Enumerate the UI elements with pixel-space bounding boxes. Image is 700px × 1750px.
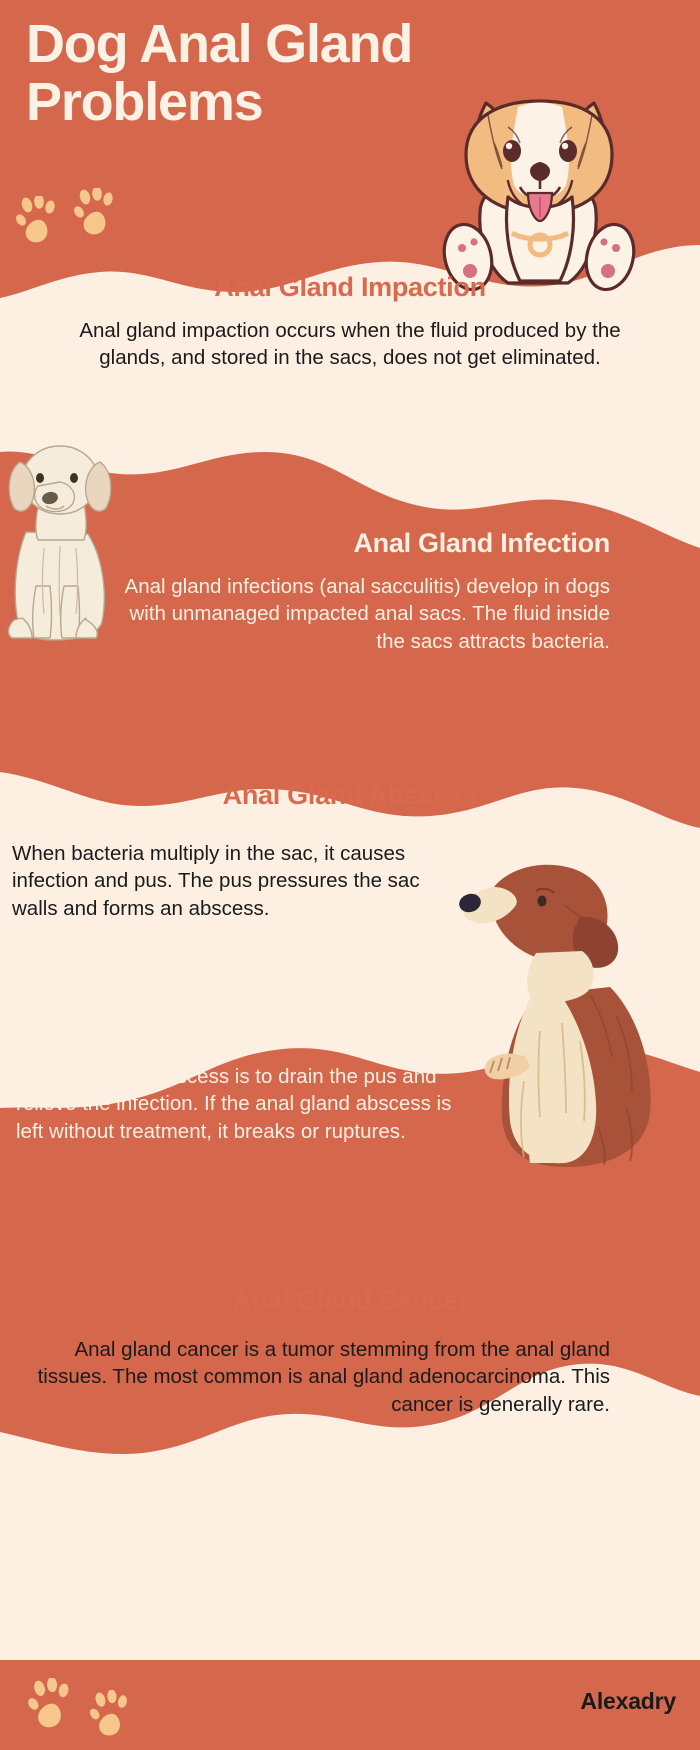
paw-print-icon — [14, 196, 60, 246]
section-body: The role of the abscess is to drain the … — [16, 1063, 471, 1145]
section-heading: Anal Gland Infection — [120, 528, 610, 559]
paw-print-icon — [26, 1678, 74, 1732]
section-rupture: The role of the abscess is to drain the … — [16, 1063, 471, 1145]
section-body: Anal gland cancer is a tumor stemming fr… — [30, 1336, 610, 1418]
section-impaction: Anal Gland Impaction Anal gland impactio… — [60, 272, 640, 372]
brand-name: Alexadry — [580, 1688, 676, 1715]
section-body: Anal gland impaction occurs when the flu… — [60, 317, 640, 372]
section-cancer: Anal gland cancer is a tumor stemming fr… — [30, 1336, 610, 1418]
paw-print-icon — [72, 188, 118, 238]
section-abscess-heading-wrap: Anal Gland Abscess — [60, 780, 640, 825]
infographic-poster: Dog Anal Gland Problems — [0, 0, 700, 1750]
section-cancer-heading-wrap: Anal Gland Cancer — [60, 1285, 640, 1330]
section-abscess: When bacteria multiply in the sac, it ca… — [12, 840, 457, 922]
section-rupture-heading-wrap: Anal Gland Rupture — [60, 1008, 520, 1053]
section-heading: Anal Gland Cancer — [60, 1285, 640, 1316]
section-infection: Anal Gland Infection Anal gland infectio… — [120, 528, 610, 655]
corgi-puppy-illustration — [408, 85, 668, 300]
section-body: Anal gland infections (anal sacculitis) … — [120, 573, 610, 655]
section-body: When bacteria multiply in the sac, it ca… — [12, 840, 457, 922]
section-heading: Anal Gland Abscess — [60, 780, 640, 811]
cream-labrador-sitting-illustration — [2, 436, 132, 656]
paw-print-icon — [88, 1690, 132, 1740]
section-heading: Anal Gland Rupture — [60, 1008, 520, 1039]
footer-bar: Alexadry — [0, 1660, 700, 1750]
section-heading: Anal Gland Impaction — [60, 272, 640, 303]
